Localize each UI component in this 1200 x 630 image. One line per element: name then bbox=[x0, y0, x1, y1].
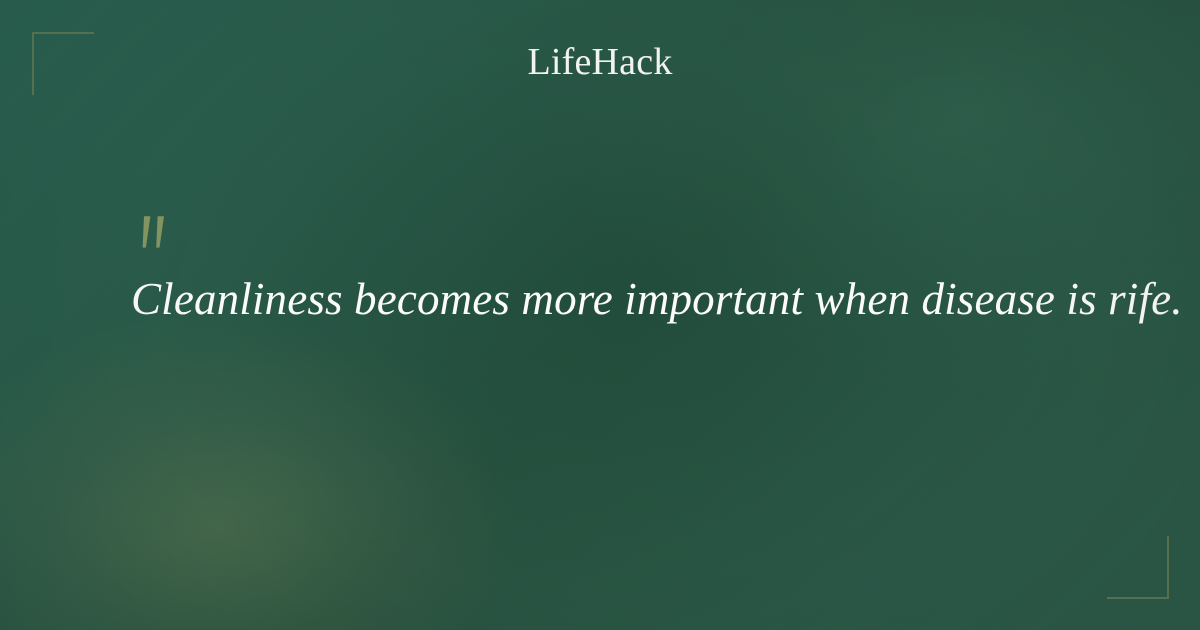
bottom-right-corner-bracket-icon bbox=[1107, 536, 1169, 599]
lifehack-logo: LifeHack bbox=[0, 40, 1200, 84]
quotation-mark-icon bbox=[133, 214, 179, 260]
quote-text: Cleanliness becomes more important when … bbox=[131, 270, 1111, 328]
quote-card: LifeHack Cleanliness becomes more import… bbox=[0, 0, 1200, 630]
quote-block: Cleanliness becomes more important when … bbox=[131, 214, 1111, 328]
